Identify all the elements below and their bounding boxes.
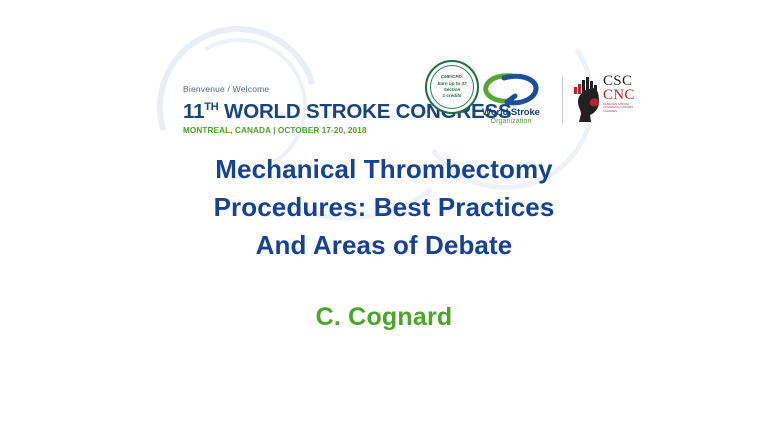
slide-title-line-1: Mechanical Thrombectomy [84, 150, 684, 188]
slide-title-line-3: And Areas of Debate [84, 226, 684, 264]
cme-badge-inner-ring: CME/CPD: Earn up to 37 Section 1 credits [430, 65, 474, 109]
slide-title-line-2: Procedures: Best Practices [84, 188, 684, 226]
slide-title: Mechanical Thrombectomy Procedures: Best… [84, 150, 684, 264]
presentation-slide: Bienvenue / Welcome 11TH WORLD STROKE CO… [0, 0, 768, 432]
cnc-text: CNC [603, 88, 635, 103]
wso-name-text: World Stroke [470, 107, 552, 118]
wso-subtitle-text: Organization [470, 118, 552, 126]
banner-location-date: MONTREAL, CANADA | OCTOBER 17-20, 2018 [183, 125, 511, 136]
world-stroke-organization-logo: World Stroke Organization [470, 72, 552, 132]
cme-credits-badge: CME/CPD: Earn up to 37 Section 1 credits [425, 60, 479, 114]
cme-badge-line-4: 1 credits [443, 93, 462, 99]
congress-banner: Bienvenue / Welcome 11TH WORLD STROKE CO… [165, 56, 605, 140]
banner-congress-number: 11 [183, 100, 204, 123]
csc-cnc-subtitle: CANADIAN STROKE CONGRESS CONGRES CANADIE… [603, 103, 645, 113]
csc-cnc-logo: CSC CNC CANADIAN STROKE CONGRESS CONGRES… [573, 72, 645, 126]
presenter-name: C. Cognard [84, 303, 684, 332]
banner-congress-ordinal: TH [204, 101, 218, 113]
csc-head-silhouette-icon [573, 86, 603, 129]
wso-swoosh-icon [470, 72, 552, 106]
logo-divider [562, 76, 563, 124]
